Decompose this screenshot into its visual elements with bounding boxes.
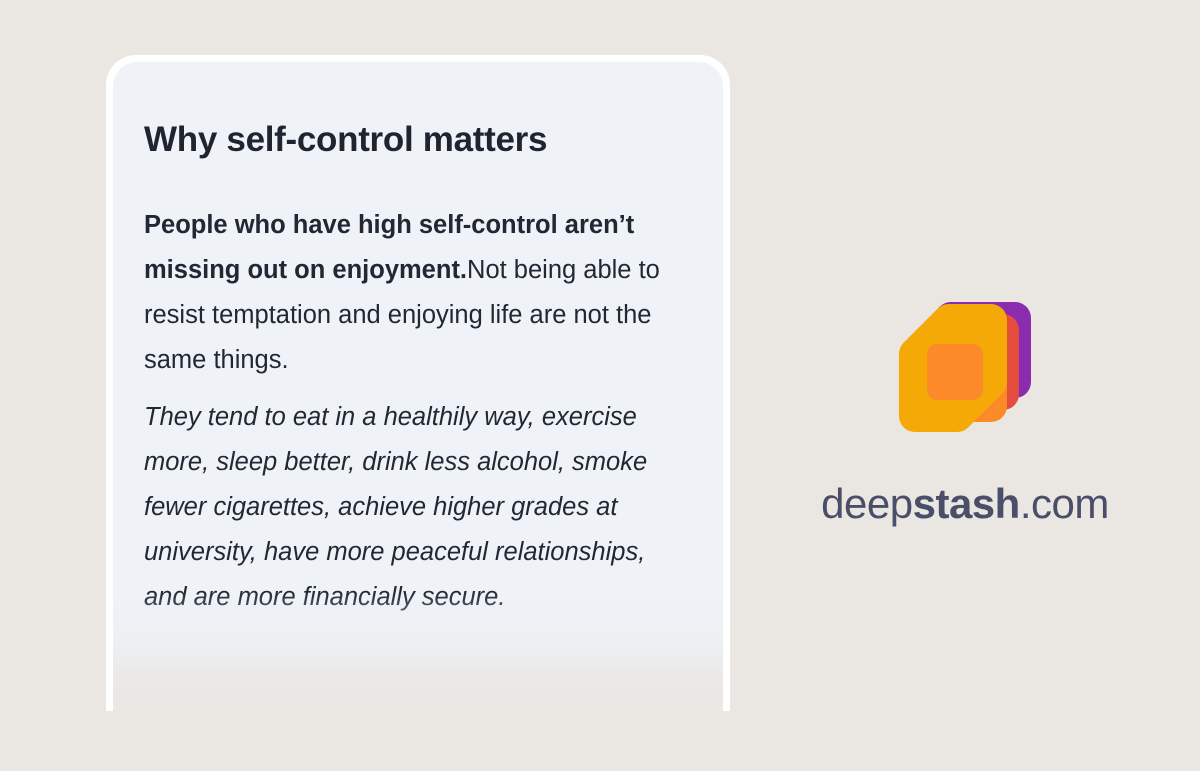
page-title: Why self-control matters <box>144 120 691 159</box>
wordmark-suffix: .com <box>1020 480 1109 527</box>
quote-text: They tend to eat in a healthily way, exe… <box>144 395 691 620</box>
deepstash-cube-logo <box>891 296 1039 444</box>
wordmark-prefix: deep <box>821 480 912 527</box>
wordmark-emphasis: stash <box>913 480 1020 527</box>
brand-wordmark: deepstash.com <box>821 480 1109 528</box>
summary-paragraph: People who have high self-control aren’t… <box>144 203 691 383</box>
quote-card-body: Why self-control matters People who have… <box>113 62 723 711</box>
brand-block: deepstash.com <box>800 296 1130 528</box>
quote-card: Why self-control matters People who have… <box>106 55 730 711</box>
deepstash-cube-logo-icon <box>891 296 1039 444</box>
